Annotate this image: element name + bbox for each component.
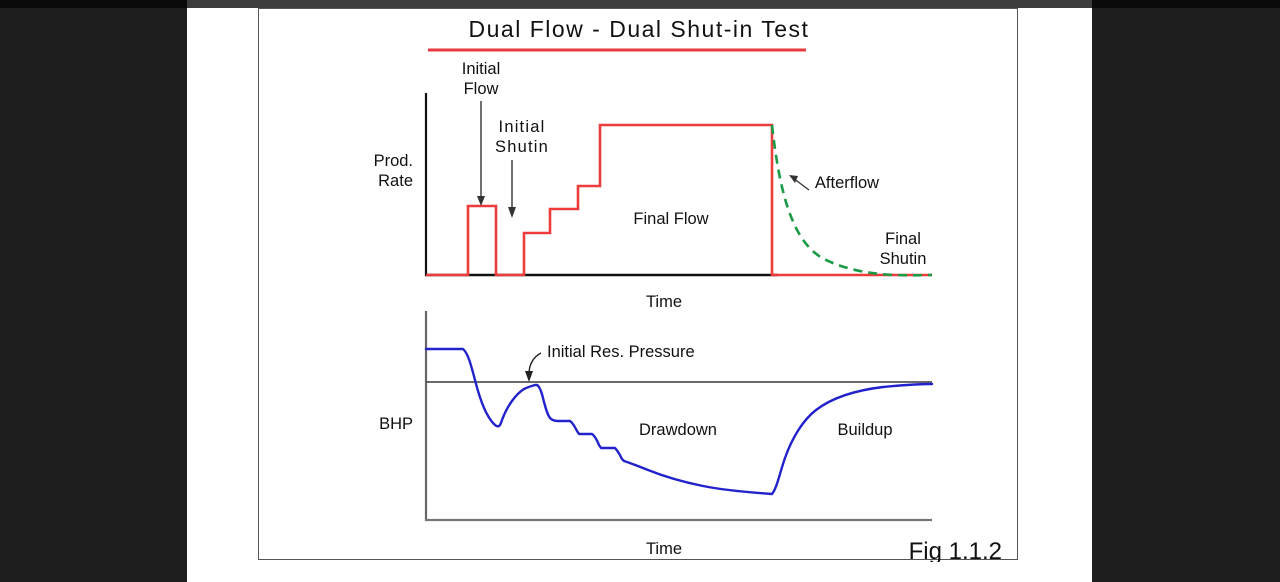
- annotation-initial-res-pressure: Initial Res. Pressure: [547, 343, 695, 361]
- figure-svg: Dual Flow - Dual Shut-in Test Prod. Rate…: [258, 8, 1020, 562]
- bhp-chart: BHP Initial Res. Pressure Drawdown Build…: [379, 311, 932, 558]
- afterflow-arrowhead-icon: [789, 175, 798, 183]
- rate-x-axis-label: Time: [646, 293, 682, 311]
- production-rate-chart: Prod. Rate Initial Flow Initial Shutin F…: [374, 60, 932, 311]
- bhp-y-axis-label: BHP: [379, 415, 413, 433]
- figure-number: Fig 1.1.2: [909, 538, 1002, 562]
- annotation-drawdown: Drawdown: [639, 421, 717, 439]
- left-dark-panel: [0, 8, 187, 582]
- annotation-buildup: Buildup: [837, 421, 892, 439]
- screenshot-root: Dual Flow - Dual Shut-in Test Prod. Rate…: [0, 0, 1280, 582]
- rate-y-axis-label-line2: Rate: [378, 172, 413, 190]
- annotation-final-shutin-line2: Shutin: [880, 250, 927, 268]
- annotation-initial-flow-line2: Flow: [464, 80, 499, 98]
- initial-flow-arrowhead-icon: [477, 196, 485, 206]
- initial-res-pressure-leader-line: [529, 353, 541, 374]
- annotation-initial-shutin-line1: Initial: [499, 118, 546, 136]
- bhp-x-axis-label: Time: [646, 540, 682, 558]
- initial-shutin-arrowhead-icon: [508, 207, 516, 218]
- rate-y-axis-label-line1: Prod.: [374, 152, 413, 170]
- annotation-initial-shutin-line2: Shutin: [495, 138, 549, 156]
- annotation-final-flow: Final Flow: [633, 210, 708, 228]
- annotation-final-shutin-line1: Final: [885, 230, 921, 248]
- initial-res-pressure-arrowhead-icon: [525, 371, 533, 382]
- top-dark-bar-center: [187, 0, 1092, 8]
- right-dark-panel: [1092, 8, 1280, 582]
- annotation-initial-flow-line1: Initial: [462, 60, 501, 78]
- page-title: Dual Flow - Dual Shut-in Test: [469, 16, 810, 42]
- annotation-afterflow: Afterflow: [815, 174, 879, 192]
